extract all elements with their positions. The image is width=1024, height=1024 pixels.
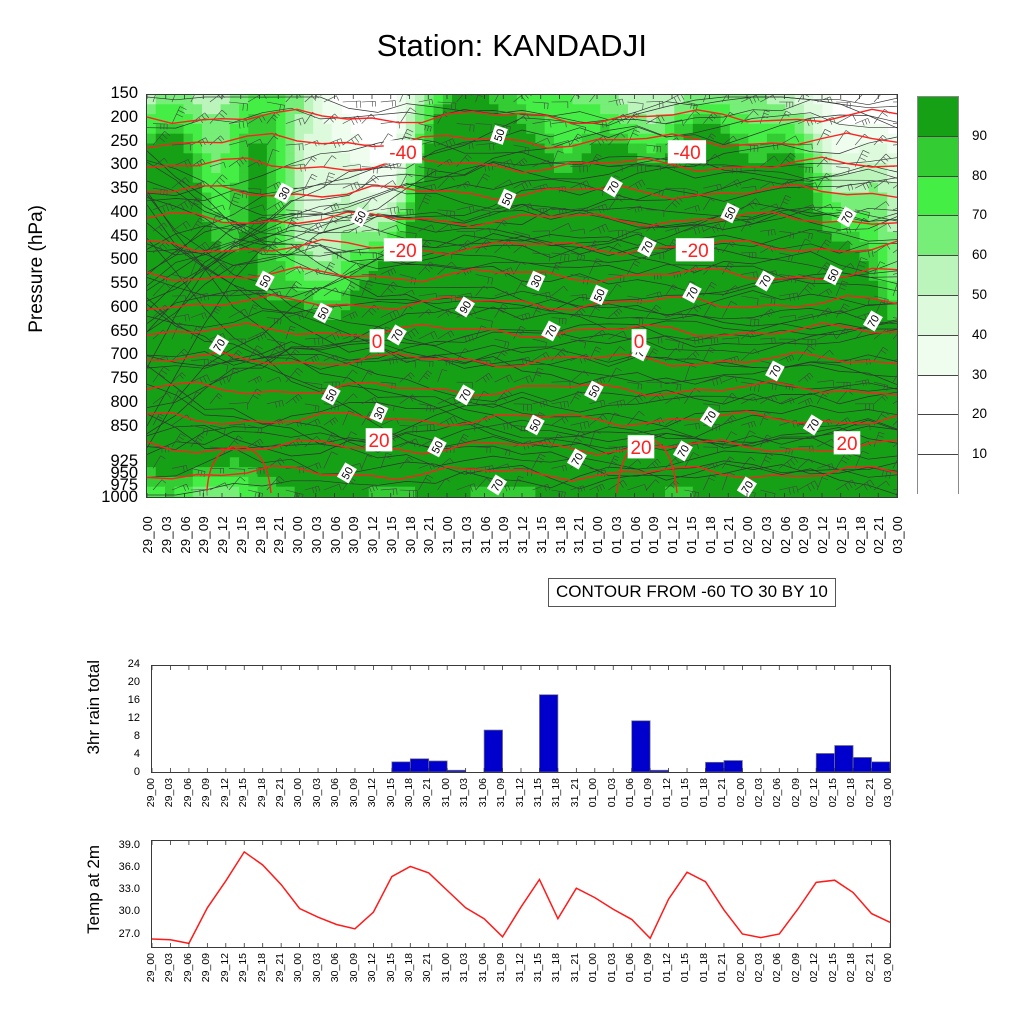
humidity-cell [276, 163, 286, 174]
humidity-cell [239, 281, 249, 292]
humidity-cell [147, 281, 157, 292]
humidity-cell [258, 408, 268, 419]
humidity-cell [563, 261, 573, 272]
humidity-cell [878, 251, 888, 262]
humidity-cell [248, 144, 258, 155]
humidity-cell [785, 389, 795, 400]
humidity-cell [415, 202, 425, 213]
humidity-cell [535, 261, 545, 272]
humidity-cell [656, 281, 666, 292]
humidity-cell [359, 232, 369, 243]
humidity-cell [878, 447, 888, 458]
humidity-cell [258, 183, 268, 194]
humidity-cell [776, 340, 786, 351]
humidity-cell [748, 349, 758, 360]
humidity-cell [850, 281, 860, 292]
humidity-cell [804, 222, 814, 233]
humidity-cell [480, 340, 490, 351]
humidity-cell [156, 428, 166, 439]
humidity-cell [609, 428, 619, 439]
humidity-cell [415, 487, 425, 497]
humidity-cell [526, 447, 536, 458]
humidity-cell [332, 408, 342, 419]
wind-barb-tick [865, 120, 867, 125]
humidity-cell [378, 310, 388, 321]
humidity-cell [721, 487, 731, 497]
pressure-tick-label: 150 [60, 85, 138, 102]
humidity-cell [563, 193, 573, 204]
humidity-cell [211, 408, 221, 419]
humidity-cell [526, 330, 536, 341]
pressure-tick-label: 800 [60, 394, 138, 411]
humidity-cell [313, 369, 323, 380]
humidity-cell [193, 438, 203, 449]
humidity-cell [795, 153, 805, 164]
humidity-cell [619, 418, 629, 429]
humidity-cell [341, 183, 351, 194]
humidity-cell [600, 418, 610, 429]
humidity-cell [776, 153, 786, 164]
humidity-cell [785, 261, 795, 272]
humidity-cell [545, 310, 555, 321]
humidity-cell [313, 144, 323, 155]
humidity-cell [202, 183, 212, 194]
humidity-cell [202, 457, 212, 468]
humidity-cell [313, 291, 323, 302]
humidity-cell [711, 398, 721, 409]
humidity-cell [526, 153, 536, 164]
humidity-cell [665, 291, 675, 302]
humidity-cell [619, 104, 629, 115]
humidity-cell [508, 114, 518, 125]
humidity-cell [267, 379, 277, 390]
humidity-cell [332, 173, 342, 184]
humidity-cell [248, 124, 258, 135]
humidity-cell [461, 447, 471, 458]
humidity-cell [498, 251, 508, 262]
humidity-cell [554, 379, 564, 390]
humidity-cell [508, 369, 518, 380]
humidity-cell [647, 163, 657, 174]
humidity-cell [600, 144, 610, 155]
humidity-cell [341, 291, 351, 302]
humidity-cell [841, 300, 851, 311]
humidity-cell [535, 457, 545, 468]
humidity-cell [702, 487, 712, 497]
humidity-cell [461, 95, 471, 105]
humidity-cell [684, 202, 694, 213]
humidity-cell [748, 134, 758, 145]
humidity-cell [406, 310, 416, 321]
humidity-cell [545, 193, 555, 204]
humidity-cell [147, 261, 157, 272]
humidity-cell [832, 163, 842, 174]
humidity-cell [545, 418, 555, 429]
humidity-cell [378, 173, 388, 184]
humidity-cell [665, 124, 675, 135]
humidity-cell [647, 212, 657, 223]
humidity-cell [609, 104, 619, 115]
humidity-cell [461, 359, 471, 370]
humidity-cell [156, 320, 166, 331]
humidity-cell [693, 271, 703, 282]
humidity-cell [443, 202, 453, 213]
humidity-cell [554, 251, 564, 262]
pressure-tick-label: 300 [60, 156, 138, 173]
humidity-cell [859, 251, 869, 262]
humidity-cell [211, 232, 221, 243]
humidity-cell [508, 261, 518, 272]
humidity-cell [248, 163, 258, 174]
humidity-cell [684, 398, 694, 409]
humidity-cell [295, 408, 305, 419]
humidity-cell [822, 134, 832, 145]
humidity-cell [221, 173, 231, 184]
humidity-cell [276, 487, 286, 497]
humidity-cell [443, 369, 453, 380]
humidity-cell [859, 124, 869, 135]
humidity-cell [600, 104, 610, 115]
humidity-cell [832, 408, 842, 419]
humidity-cell [461, 232, 471, 243]
humidity-cell [822, 251, 832, 262]
humidity-cell [415, 261, 425, 272]
humidity-cell [434, 320, 444, 331]
humidity-cell [424, 369, 434, 380]
humidity-cell [452, 477, 462, 488]
humidity-cell [156, 95, 166, 105]
humidity-cell [526, 320, 536, 331]
humidity-cell [804, 251, 814, 262]
humidity-cell [767, 398, 777, 409]
humidity-cell [878, 124, 888, 135]
humidity-cell [758, 144, 768, 155]
humidity-cell [258, 369, 268, 380]
wind-barb-staff [381, 101, 396, 102]
humidity-cell [813, 477, 823, 488]
pressure-tick-label: 200 [60, 109, 138, 126]
humidity-cell [341, 251, 351, 262]
humidity-cell [295, 153, 305, 164]
humidity-cell [684, 271, 694, 282]
humidity-cell [739, 104, 749, 115]
humidity-cell [647, 134, 657, 145]
humidity-cell [480, 281, 490, 292]
humidity-cell [859, 340, 869, 351]
humidity-cell [619, 487, 629, 497]
humidity-cell [202, 447, 212, 458]
humidity-cell [147, 389, 157, 400]
humidity-cell [239, 144, 249, 155]
humidity-cell [184, 95, 194, 105]
humidity-cell [295, 487, 305, 497]
humidity-cell [147, 320, 157, 331]
humidity-cell [258, 398, 268, 409]
humidity-cell [480, 124, 490, 135]
humidity-cell [850, 340, 860, 351]
humidity-cell [609, 202, 619, 213]
humidity-cell [702, 310, 712, 321]
humidity-cell [563, 310, 573, 321]
humidity-cell [600, 487, 610, 497]
humidity-cell [434, 330, 444, 341]
humidity-cell [656, 202, 666, 213]
humidity-cell [295, 173, 305, 184]
humidity-cell [211, 202, 221, 213]
humidity-cell [785, 369, 795, 380]
humidity-cell [591, 104, 601, 115]
contour-plot-canvas: 5030305050705030505070907050707070503050… [147, 95, 897, 497]
humidity-cell [647, 408, 657, 419]
humidity-cell [452, 340, 462, 351]
humidity-cell [184, 487, 194, 497]
humidity-cell [147, 124, 157, 135]
humidity-cell [693, 114, 703, 125]
humidity-cell [471, 124, 481, 135]
wind-barb-tick [853, 115, 856, 121]
humidity-cell [452, 428, 462, 439]
humidity-cell [656, 487, 666, 497]
wind-barb-tick [336, 96, 338, 101]
humidity-cell [230, 428, 240, 439]
humidity-cell [572, 222, 582, 233]
humidity-cell [239, 477, 249, 488]
humidity-cell [165, 340, 175, 351]
humidity-cell [582, 359, 592, 370]
humidity-cell [563, 467, 573, 478]
humidity-cell [406, 369, 416, 380]
humidity-cell [193, 340, 203, 351]
humidity-cell [730, 242, 740, 253]
humidity-cell [758, 477, 768, 488]
humidity-cell [397, 467, 407, 478]
humidity-cell [785, 222, 795, 233]
humidity-cell [230, 389, 240, 400]
humidity-cell [415, 310, 425, 321]
humidity-cell [415, 281, 425, 292]
humidity-cell [424, 398, 434, 409]
humidity-cell [674, 261, 684, 272]
humidity-cell [359, 477, 369, 488]
humidity-cell [285, 447, 295, 458]
humidity-cell [545, 300, 555, 311]
humidity-cell [359, 173, 369, 184]
wind-barb-staff [343, 101, 361, 102]
humidity-cell [545, 389, 555, 400]
humidity-cell [202, 232, 212, 243]
humidity-cell [387, 222, 397, 233]
humidity-cell [628, 369, 638, 380]
humidity-cell [721, 447, 731, 458]
humidity-cell [248, 379, 258, 390]
humidity-cell [795, 124, 805, 135]
humidity-cell [711, 349, 721, 360]
humidity-cell [563, 418, 573, 429]
humidity-cell [211, 281, 221, 292]
humidity-cell [434, 163, 444, 174]
humidity-cell [452, 408, 462, 419]
humidity-cell [471, 271, 481, 282]
humidity-cell [813, 340, 823, 351]
humidity-cell [304, 389, 314, 400]
humidity-cell [193, 153, 203, 164]
humidity-cell [665, 251, 675, 262]
humidity-cell [387, 467, 397, 478]
humidity-cell [776, 222, 786, 233]
humidity-cell [332, 104, 342, 115]
humidity-cell [276, 359, 286, 370]
humidity-cell [554, 193, 564, 204]
humidity-cell [619, 359, 629, 370]
humidity-cell [600, 95, 610, 105]
humidity-cell [850, 232, 860, 243]
humidity-cell [554, 291, 564, 302]
humidity-cell [174, 183, 184, 194]
humidity-cell [665, 408, 675, 419]
humidity-cell [859, 291, 869, 302]
humidity-cell [248, 340, 258, 351]
humidity-cell [471, 104, 481, 115]
humidity-cell [165, 153, 175, 164]
humidity-cell [471, 408, 481, 419]
humidity-cell [887, 349, 897, 360]
humidity-cell [165, 134, 175, 145]
humidity-cell [359, 389, 369, 400]
humidity-cell [489, 418, 499, 429]
humidity-cell [684, 369, 694, 380]
humidity-cell [674, 173, 684, 184]
humidity-cell [748, 163, 758, 174]
wind-barb-staff [836, 102, 850, 103]
humidity-cell [508, 428, 518, 439]
humidity-cell [748, 457, 758, 468]
humidity-cell [276, 124, 286, 135]
humidity-cell [776, 320, 786, 331]
pressure-tick-label: 700 [60, 346, 138, 363]
humidity-cell [600, 477, 610, 488]
humidity-cell [193, 95, 203, 105]
humidity-cell [628, 232, 638, 243]
wind-barb-tick [371, 114, 375, 118]
humidity-cell [647, 173, 657, 184]
humidity-cell [804, 330, 814, 341]
humidity-cell [221, 202, 231, 213]
humidity-cell [517, 330, 527, 341]
humidity-cell [545, 379, 555, 390]
humidity-cell [332, 369, 342, 380]
humidity-cell [767, 153, 777, 164]
pressure-tick-label: 250 [60, 133, 138, 150]
humidity-cell [813, 104, 823, 115]
humidity-cell [767, 320, 777, 331]
humidity-cell [332, 114, 342, 125]
humidity-cell [665, 340, 675, 351]
humidity-cell [147, 291, 157, 302]
humidity-cell [508, 300, 518, 311]
humidity-cell [600, 251, 610, 262]
humidity-cell [480, 212, 490, 223]
humidity-cell [387, 173, 397, 184]
humidity-cell [758, 418, 768, 429]
humidity-cell [471, 114, 481, 125]
humidity-cell [295, 398, 305, 409]
humidity-cell [748, 300, 758, 311]
humidity-cell [471, 281, 481, 292]
humidity-cell [721, 477, 731, 488]
humidity-cell [517, 477, 527, 488]
humidity-cell [165, 457, 175, 468]
humidity-cell [684, 320, 694, 331]
humidity-cell [887, 261, 897, 272]
humidity-cell [415, 408, 425, 419]
humidity-cell [517, 389, 527, 400]
humidity-cell [591, 95, 601, 105]
humidity-cell [656, 232, 666, 243]
humidity-cell [498, 320, 508, 331]
humidity-cell [887, 477, 897, 488]
humidity-cell [563, 389, 573, 400]
humidity-cell [295, 134, 305, 145]
humidity-cell [545, 457, 555, 468]
pressure-tick-label: 650 [60, 323, 138, 340]
humidity-cell [443, 173, 453, 184]
humidity-cell [443, 487, 453, 497]
humidity-cell [406, 114, 416, 125]
humidity-cell [304, 369, 314, 380]
humidity-cell [461, 193, 471, 204]
humidity-cell [156, 349, 166, 360]
humidity-cell [341, 232, 351, 243]
humidity-cell [841, 251, 851, 262]
humidity-cell [239, 173, 249, 184]
humidity-cell [674, 369, 684, 380]
humidity-cell [545, 281, 555, 292]
humidity-cell [822, 163, 832, 174]
humidity-cell [563, 369, 573, 380]
humidity-cell [822, 202, 832, 213]
humidity-cell [721, 173, 731, 184]
humidity-cell [230, 124, 240, 135]
humidity-cell [461, 251, 471, 262]
humidity-cell [406, 408, 416, 419]
humidity-cell [276, 379, 286, 390]
humidity-cell [647, 477, 657, 488]
humidity-cell [804, 340, 814, 351]
humidity-cell [156, 173, 166, 184]
humidity-cell [313, 487, 323, 497]
humidity-cell [147, 369, 157, 380]
humidity-cell [295, 447, 305, 458]
humidity-cell [369, 487, 379, 497]
humidity-cell [600, 163, 610, 174]
humidity-cell [369, 202, 379, 213]
humidity-cell [822, 369, 832, 380]
humidity-cell [656, 173, 666, 184]
humidity-cell [424, 408, 434, 419]
humidity-cell [508, 320, 518, 331]
humidity-cell [443, 428, 453, 439]
humidity-cell [554, 104, 564, 115]
humidity-cell [600, 340, 610, 351]
humidity-cell [202, 173, 212, 184]
humidity-cell [748, 153, 758, 164]
humidity-cell [239, 104, 249, 115]
humidity-cell [332, 153, 342, 164]
wind-barb-tick [395, 101, 396, 107]
humidity-cell [535, 467, 545, 478]
humidity-cell [332, 242, 342, 253]
humidity-cell [767, 418, 777, 429]
